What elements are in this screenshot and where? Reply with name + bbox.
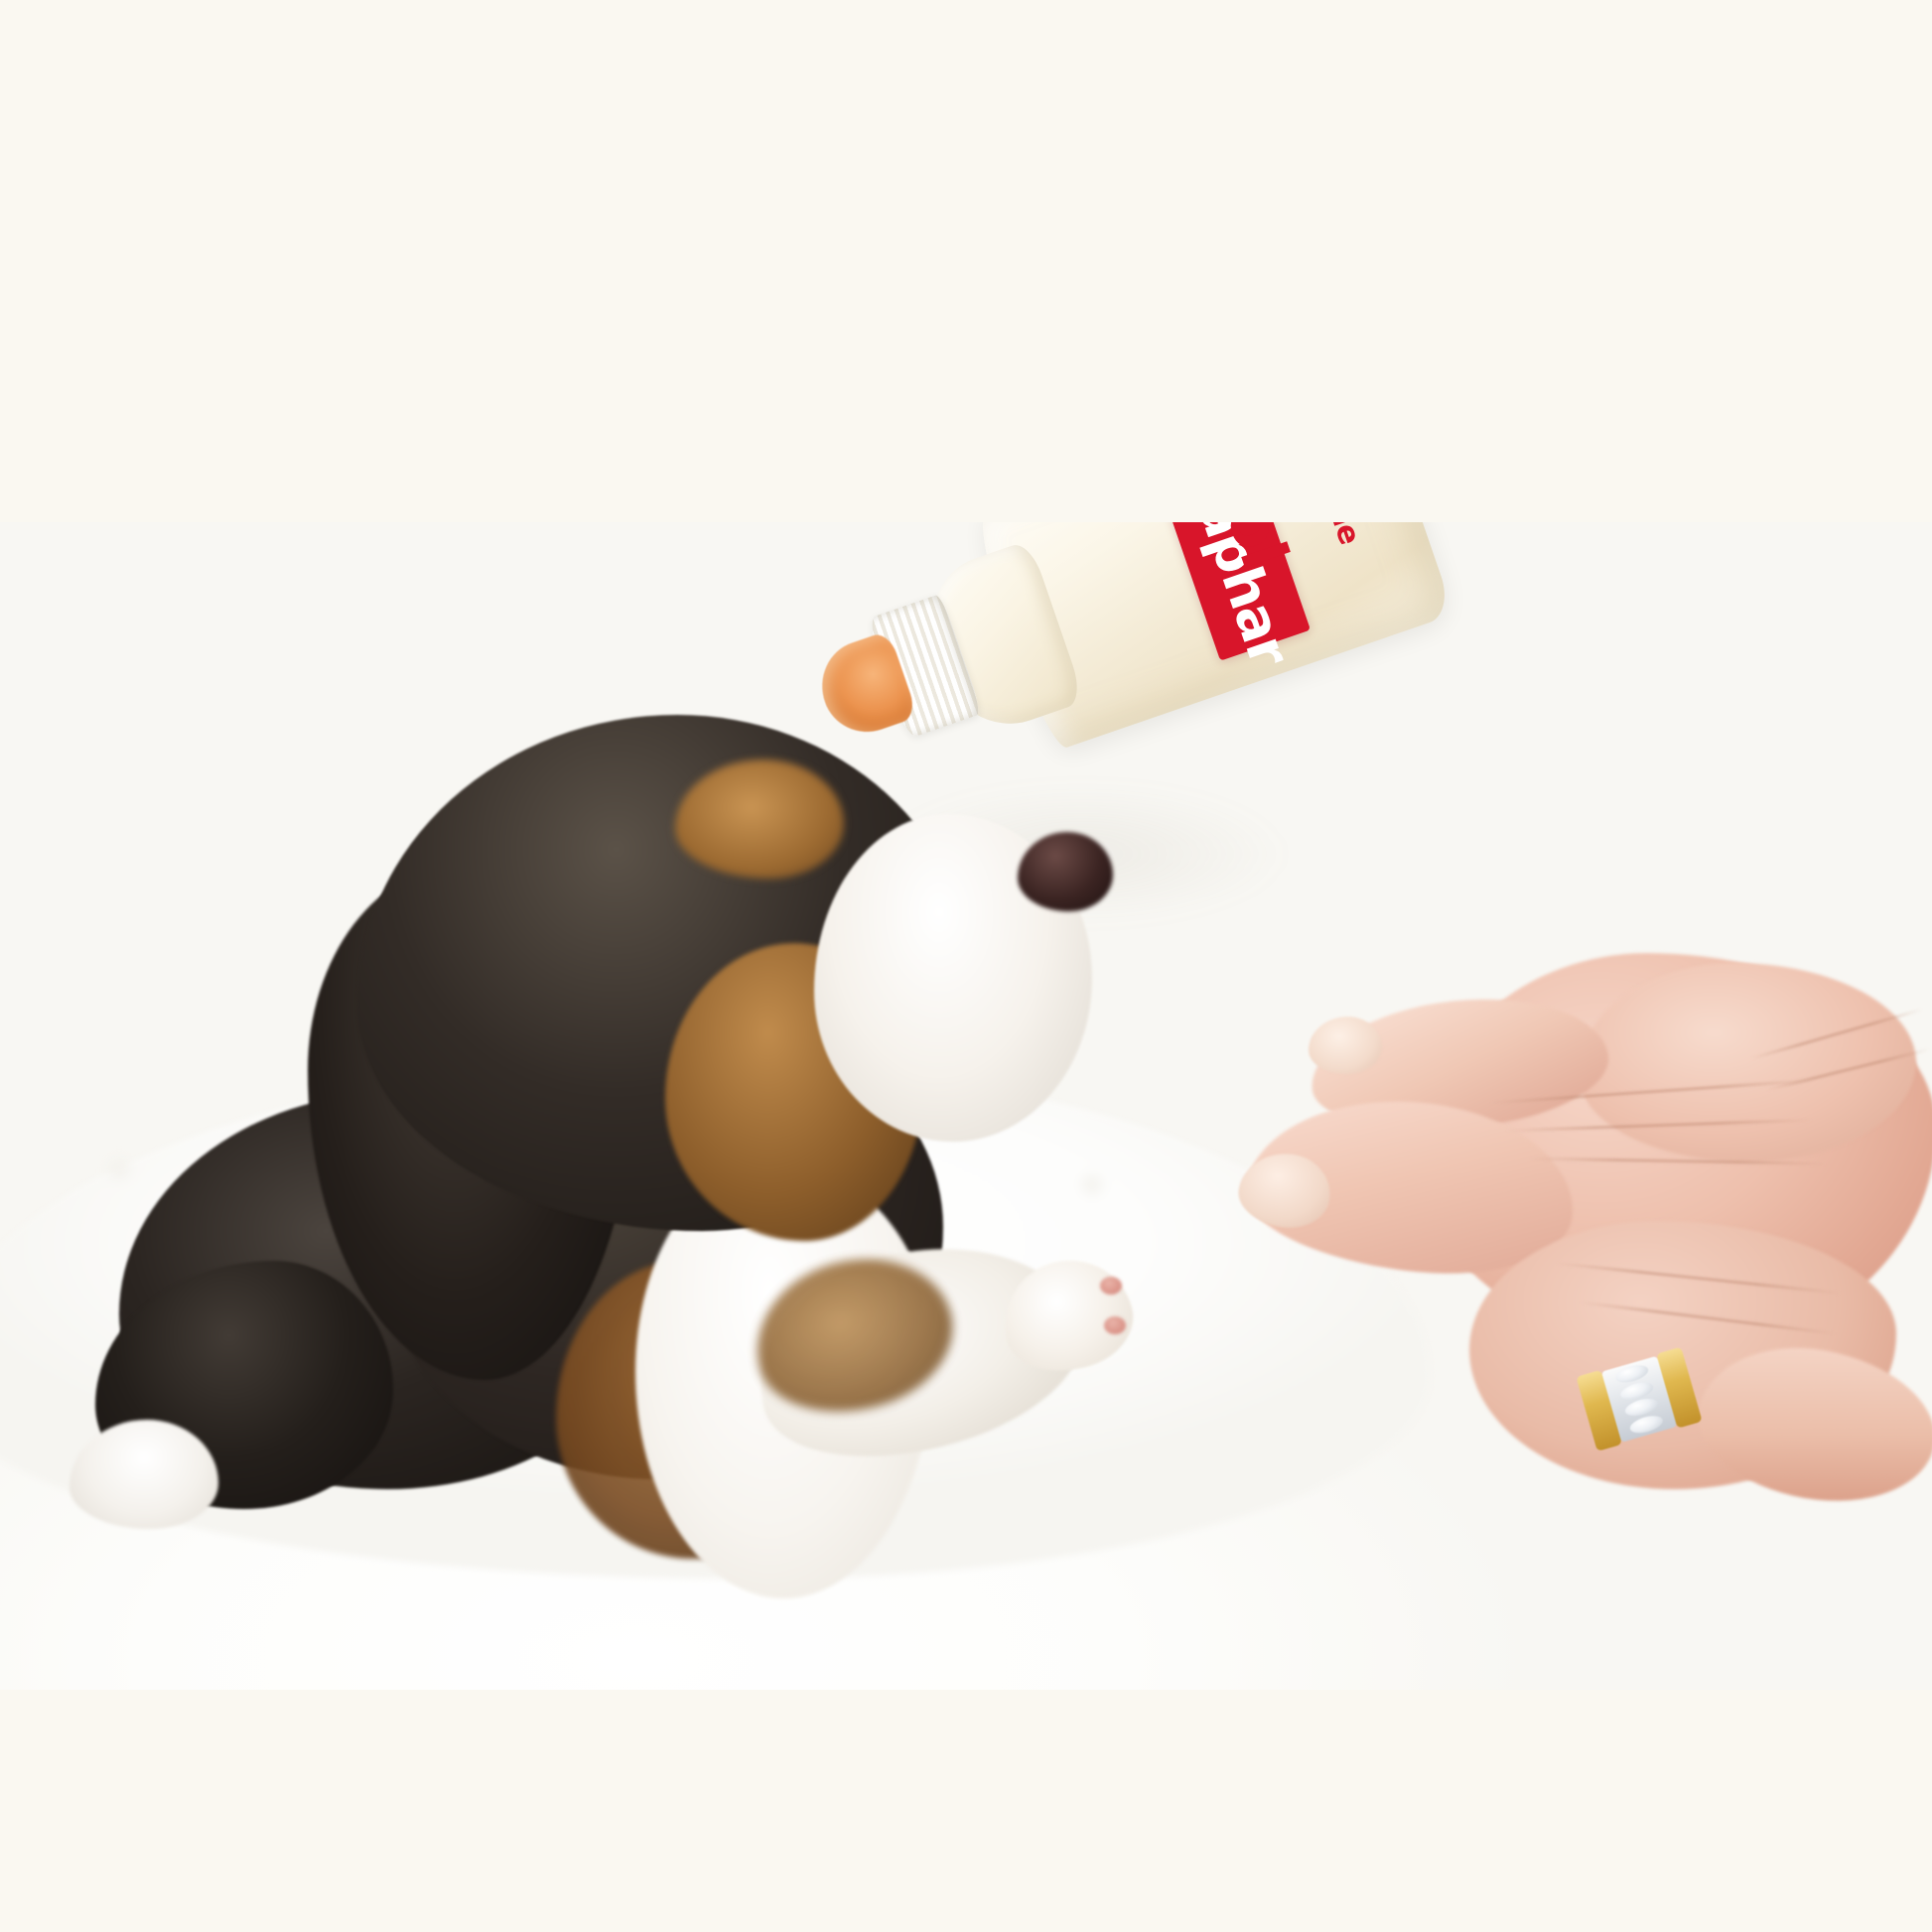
hand-knuckles <box>1579 963 1916 1162</box>
human-hand <box>1281 894 1932 1529</box>
bottom-text-banner <box>0 1690 1932 1932</box>
product-photo: beaphar ® ctol g bottle <box>0 427 1932 1797</box>
product-marketing-image: beaphar ® ctol g bottle <box>0 0 1932 1932</box>
index-fingernail <box>1309 1017 1382 1074</box>
diamond-stone <box>1628 1413 1665 1437</box>
puppy-hind-paw <box>69 1420 218 1529</box>
puppy-toe-pad <box>1104 1316 1126 1334</box>
top-text-banner <box>0 0 1932 522</box>
puppy-toe-pad <box>1100 1277 1122 1295</box>
